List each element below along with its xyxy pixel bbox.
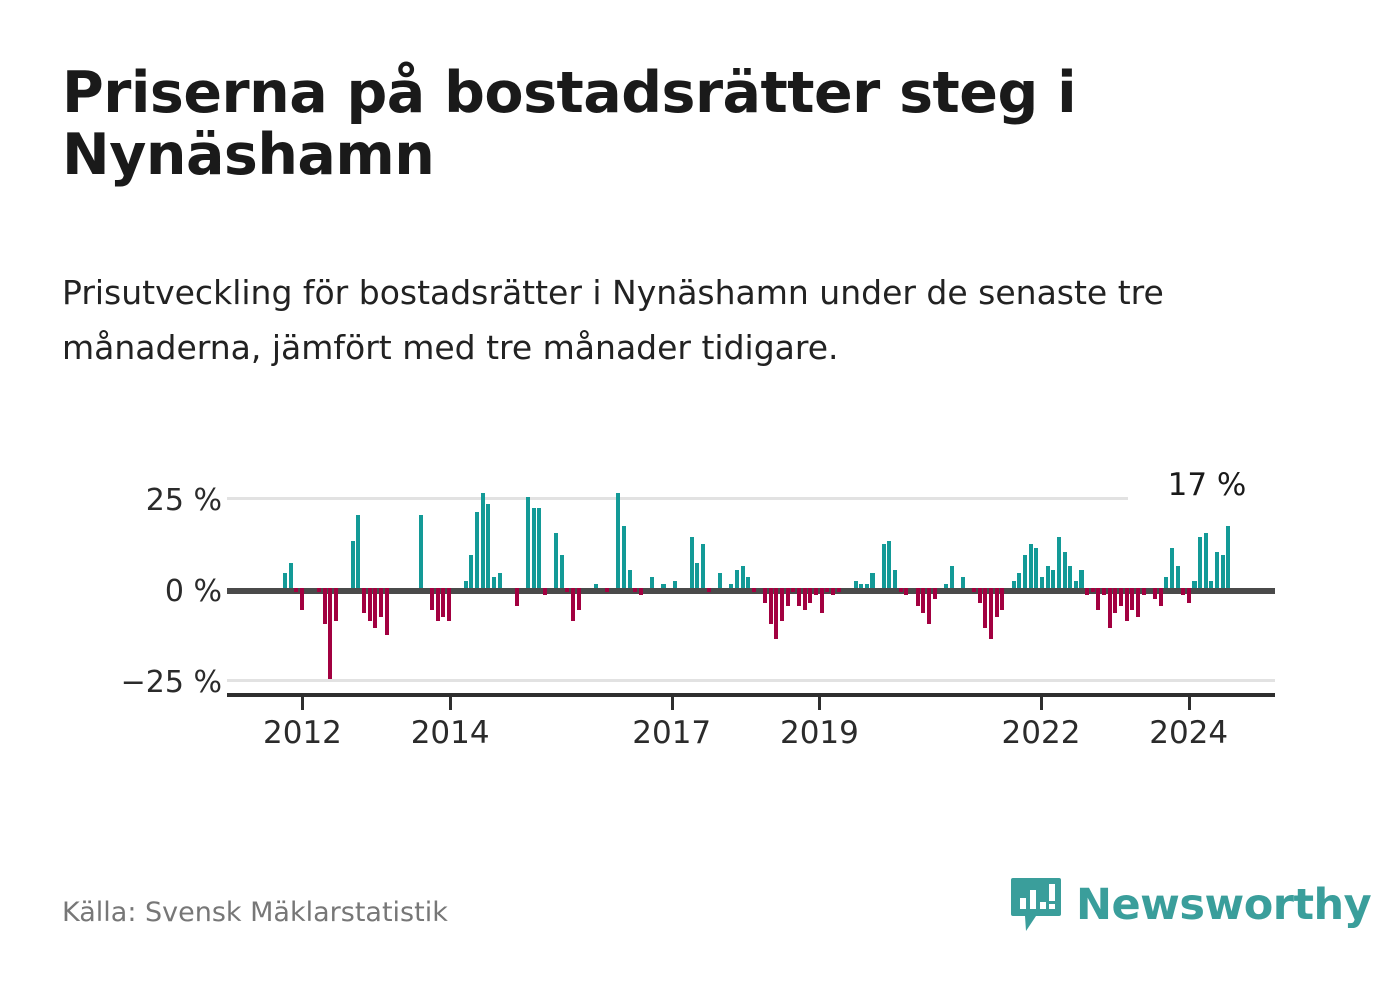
bar: [441, 588, 445, 617]
bar: [803, 588, 807, 610]
page-subtitle: Prisutveckling för bostadsrätter i Nynäs…: [62, 265, 1262, 375]
bar: [515, 588, 519, 606]
x-tick: [818, 693, 821, 710]
bar: [464, 581, 468, 588]
bar: [1017, 573, 1021, 588]
bar: [385, 588, 389, 635]
bar: [961, 577, 965, 588]
bar: [537, 508, 541, 588]
bar: [554, 533, 558, 588]
bar: [695, 563, 699, 588]
x-tick: [449, 693, 452, 710]
plot-area: [283, 497, 1232, 683]
bar: [1012, 581, 1016, 588]
bar: [1085, 588, 1089, 595]
x-tick-label: 2024: [1109, 715, 1269, 751]
bar: [1226, 526, 1230, 588]
bar: [904, 588, 908, 595]
bar: [837, 588, 841, 592]
bar: [927, 588, 931, 624]
bar: [328, 588, 332, 679]
bar: [729, 584, 733, 588]
bar: [1164, 577, 1168, 588]
bar: [571, 588, 575, 621]
bar: [1079, 570, 1083, 588]
x-tick-label: 2019: [739, 715, 899, 751]
bar: [565, 588, 569, 592]
x-tick: [301, 693, 304, 710]
bar: [661, 584, 665, 588]
bar: [1221, 555, 1225, 588]
bar: [289, 563, 293, 588]
bar-chart-speech-bubble-icon: [1010, 876, 1062, 934]
bar: [481, 493, 485, 588]
bar: [820, 588, 824, 613]
x-tick-label: 2012: [222, 715, 382, 751]
bar: [379, 588, 383, 617]
bar: [430, 588, 434, 610]
bar: [1023, 555, 1027, 588]
bar: [865, 584, 869, 588]
newsworthy-logo: Newsworthy: [1010, 876, 1371, 934]
bar: [419, 515, 423, 588]
bar: [1130, 588, 1134, 610]
bar: [1074, 581, 1078, 588]
x-tick: [1188, 693, 1191, 710]
bar: [859, 584, 863, 588]
source-note: Källa: Svensk Mäklarstatistik: [62, 897, 448, 928]
bar: [791, 588, 795, 592]
bar: [797, 588, 801, 606]
bar: [373, 588, 377, 628]
bar: [356, 515, 360, 588]
bar: [1136, 588, 1140, 617]
bar: [628, 570, 632, 588]
bar: [752, 588, 756, 592]
logo-wordmark: Newsworthy: [1076, 880, 1371, 930]
bar: [300, 588, 304, 610]
bar: [882, 544, 886, 588]
bar: [814, 588, 818, 595]
bar: [950, 566, 954, 588]
bar: [1034, 548, 1038, 588]
x-tick-label: 2017: [592, 715, 752, 751]
bar: [594, 584, 598, 588]
bar: [1209, 581, 1213, 588]
bar: [1113, 588, 1117, 613]
bar: [368, 588, 372, 621]
bar: [1063, 552, 1067, 588]
bar: [774, 588, 778, 639]
x-tick-label: 2022: [961, 715, 1121, 751]
bar: [1046, 566, 1050, 588]
bar: [707, 588, 711, 592]
bar: [1000, 588, 1004, 610]
bar: [899, 588, 903, 592]
bar: [1096, 588, 1100, 610]
bar: [701, 544, 705, 588]
bar: [1198, 537, 1202, 588]
x-tick: [1040, 693, 1043, 710]
bar: [1125, 588, 1129, 621]
bar: [1170, 548, 1174, 588]
bar: [887, 541, 891, 588]
bar: [334, 588, 338, 621]
bar-chart: 25 % 0 % −25 % 17 % 20122014201720192022…: [0, 455, 1382, 775]
x-tick: [671, 693, 674, 710]
bar: [447, 588, 451, 621]
bar: [577, 588, 581, 610]
bar: [1176, 566, 1180, 588]
bar: [1057, 537, 1061, 588]
bar: [1142, 588, 1146, 595]
bar: [989, 588, 993, 639]
bar: [944, 584, 948, 588]
bar: [323, 588, 327, 624]
bar: [808, 588, 812, 603]
bar: [1204, 533, 1208, 588]
bar: [983, 588, 987, 628]
bar: [1153, 588, 1157, 599]
bar: [1091, 588, 1095, 592]
bar: [492, 577, 496, 588]
y-tick-label-0: 0 %: [22, 574, 222, 609]
bar: [1029, 544, 1033, 588]
bar: [362, 588, 366, 613]
bar: [543, 588, 547, 595]
bar: [1108, 588, 1112, 628]
bar: [746, 577, 750, 588]
bar: [741, 566, 745, 588]
bar: [351, 541, 355, 588]
bar: [283, 573, 287, 588]
page-title: Priserna på bostadsrätter steg i Nynäsha…: [62, 62, 1242, 186]
bar: [995, 588, 999, 617]
bar: [735, 570, 739, 588]
bar: [780, 588, 784, 621]
bar: [825, 588, 829, 592]
bar: [498, 573, 502, 588]
bar: [639, 588, 643, 595]
bar: [933, 588, 937, 599]
bar: [1040, 577, 1044, 588]
bar: [978, 588, 982, 603]
bar: [1192, 581, 1196, 588]
bar: [317, 588, 321, 592]
bar: [1119, 588, 1123, 606]
bar: [854, 581, 858, 588]
infographic-page: Priserna på bostadsrätter steg i Nynäsha…: [0, 0, 1382, 999]
bar: [650, 577, 654, 588]
bar: [718, 573, 722, 588]
bar: [469, 555, 473, 588]
bar: [1051, 570, 1055, 588]
bar: [921, 588, 925, 613]
bar: [831, 588, 835, 595]
bar: [633, 588, 637, 592]
bar: [436, 588, 440, 621]
bar: [870, 573, 874, 588]
bar: [1187, 588, 1191, 603]
bar: [294, 588, 298, 592]
x-tick-label: 2014: [370, 715, 530, 751]
bar: [763, 588, 767, 603]
bar: [893, 570, 897, 588]
bar: [972, 588, 976, 592]
bar: [560, 555, 564, 588]
y-tick-label-25: 25 %: [22, 483, 222, 518]
bar: [622, 526, 626, 588]
bar: [1181, 588, 1185, 595]
x-axis-ticks: 201220142017201920222024: [0, 693, 1382, 763]
bar: [1215, 552, 1219, 588]
bar: [486, 504, 490, 588]
bar: [526, 497, 530, 588]
bar: [673, 581, 677, 588]
bar: [1102, 588, 1106, 595]
bar: [532, 508, 536, 588]
bar: [786, 588, 790, 606]
bar: [475, 512, 479, 588]
bar: [605, 588, 609, 592]
bar: [1068, 566, 1072, 588]
bar: [616, 493, 620, 588]
bar: [1159, 588, 1163, 606]
bar: [916, 588, 920, 606]
bar: [690, 537, 694, 588]
bar: [769, 588, 773, 624]
